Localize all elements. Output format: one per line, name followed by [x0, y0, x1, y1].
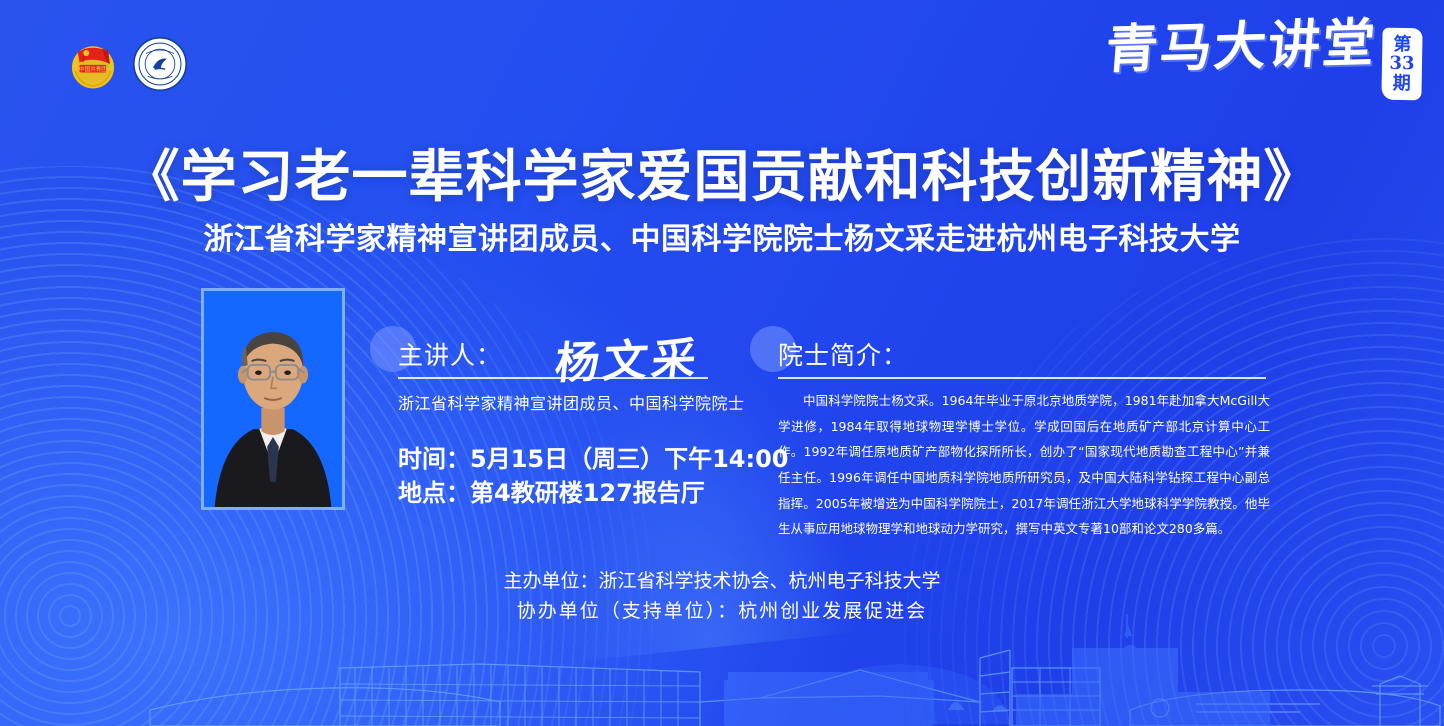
- page-title: 《学习老一辈科学家爱国贡献和科技创新精神》: [0, 132, 1444, 213]
- svg-text:中国共青团: 中国共青团: [79, 65, 107, 73]
- bio-text: 中国科学院院士杨文采。1964年毕业于原北京地质学院，1981年赴加拿大McGi…: [778, 388, 1270, 542]
- bio-section-header: 院士简介：: [778, 336, 908, 372]
- issue-suffix: 期: [1392, 74, 1410, 94]
- communist-youth-league-emblem-icon: 中国共青团: [66, 37, 120, 91]
- speaker-section-header: 主讲人：: [398, 336, 502, 372]
- speaker-section-label: 主讲人：: [398, 336, 502, 372]
- poster-canvas: 中国共青团 青马大讲堂 第 33 期 《学习老一辈科学家爱国贡献和科技创新精神》…: [0, 0, 1444, 726]
- event-location: 地点：第4教研楼127报告厅: [398, 476, 789, 510]
- bio-section-label: 院士简介：: [778, 336, 908, 372]
- coorganizer-line: 协办单位（支持单位）：杭州创业发展促进会: [0, 596, 1444, 626]
- brand-title: 青马大讲堂: [1103, 14, 1378, 79]
- logo-group: 中国共青团: [66, 36, 188, 92]
- speaker-role: 浙江省科学家精神宣讲团成员、中国科学院院士: [398, 390, 745, 414]
- speaker-portrait-image: [204, 291, 342, 507]
- brand-lockup: 青马大讲堂 第 33 期: [1106, 18, 1422, 100]
- issue-number: 33: [1389, 54, 1414, 74]
- event-time: 时间：5月15日（周三）下午14:00: [398, 442, 789, 476]
- issue-stamp: 第 33 期: [1381, 28, 1422, 101]
- speaker-name: 杨文采: [552, 323, 703, 392]
- speaker-portrait: [201, 288, 345, 510]
- issue-prefix: 第: [1393, 35, 1411, 55]
- organizer-block: 主办单位：浙江省科学技术协会、杭州电子科技大学 协办单位（支持单位）：杭州创业发…: [0, 566, 1444, 627]
- organizer-line: 主办单位：浙江省科学技术协会、杭州电子科技大学: [0, 566, 1444, 596]
- event-details: 时间：5月15日（周三）下午14:00 地点：第4教研楼127报告厅: [398, 442, 789, 510]
- university-association-seal-icon: [132, 36, 188, 92]
- page-subtitle: 浙江省科学家精神宣讲团成员、中国科学院院士杨文采走进杭州电子科技大学: [0, 214, 1444, 258]
- bio-section-divider: [778, 377, 1266, 379]
